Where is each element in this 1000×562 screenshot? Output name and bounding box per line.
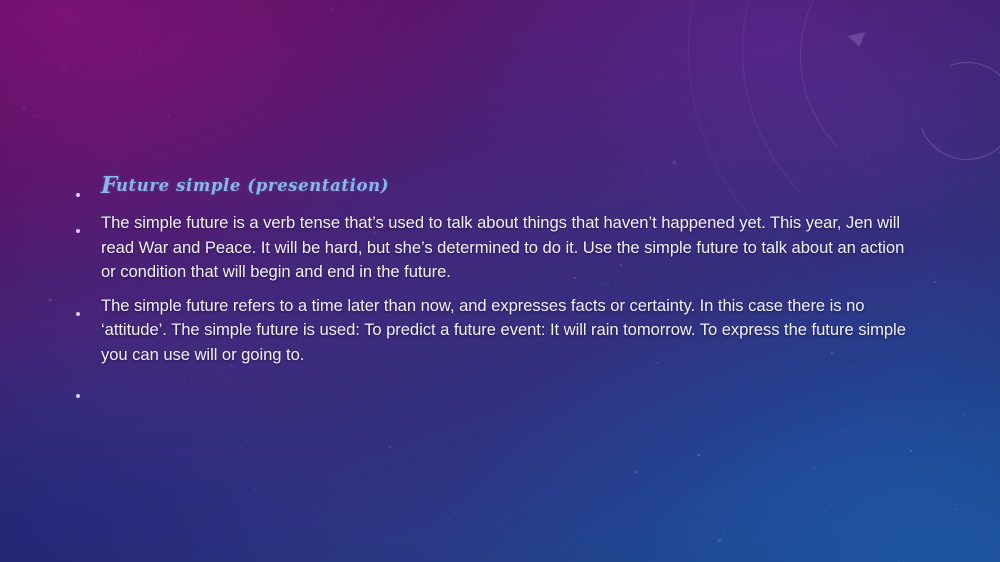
- list-item[interactable]: [60, 376, 910, 403]
- decorative-triangle-icon: [848, 32, 869, 49]
- paragraph-text: [101, 376, 910, 398]
- paragraph-text: The simple future is a verb tense that’s…: [101, 211, 910, 285]
- bullet-dot-icon: [60, 176, 101, 202]
- bullet-dot-icon: [60, 211, 101, 238]
- list-item[interactable]: Future simple (presentation): [60, 176, 910, 202]
- decorative-ring-medium-icon: [800, 0, 1000, 186]
- decorative-ring-small-icon: [902, 46, 1000, 175]
- presentation-slide: Future simple (presentation) The simple …: [0, 0, 1000, 562]
- title-rest: uture simple (presentation): [116, 176, 389, 195]
- bullet-dot-icon: [60, 376, 101, 403]
- list-item[interactable]: The simple future refers to a time later…: [60, 294, 910, 368]
- paragraph-text: The simple future refers to a time later…: [101, 294, 910, 368]
- title-swash-letter: F: [101, 172, 118, 199]
- bullet-dot-icon: [60, 294, 101, 321]
- slide-title: Future simple (presentation): [101, 176, 910, 196]
- slide-body-content: Future simple (presentation) The simple …: [60, 176, 910, 403]
- list-item[interactable]: The simple future is a verb tense that’s…: [60, 211, 910, 285]
